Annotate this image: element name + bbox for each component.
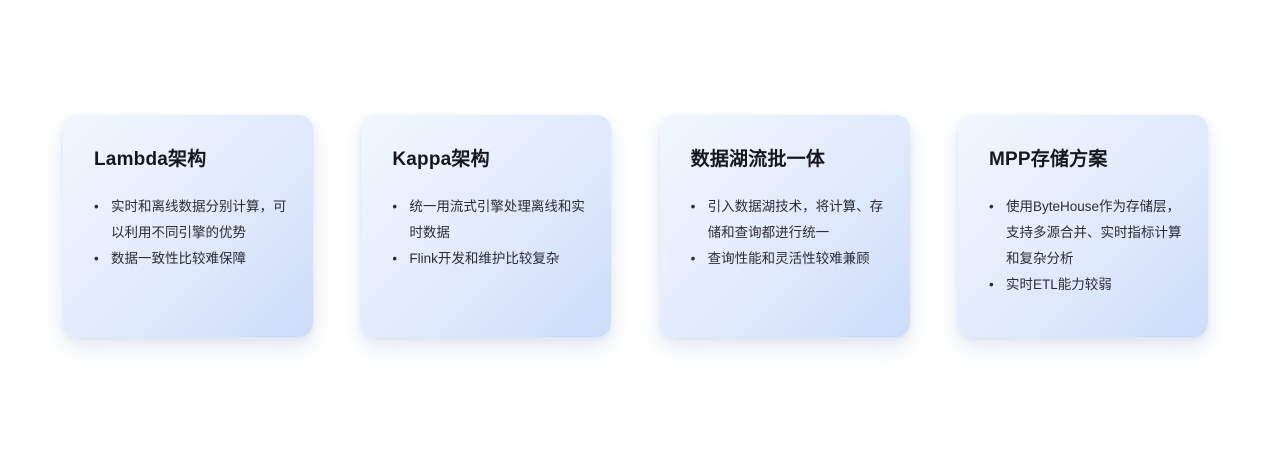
- card-bullet-list: • 引入数据湖技术，将计算、存储和查询都进行统一 • 查询性能和灵活性较难兼顾: [691, 194, 890, 272]
- list-item-text: 使用ByteHouse作为存储层，支持多源合并、实时指标计算和复杂分析: [1006, 199, 1182, 266]
- list-item: • 查询性能和灵活性较难兼顾: [691, 246, 890, 272]
- bullet-point-icon: •: [691, 194, 696, 220]
- list-item-text: 查询性能和灵活性较难兼顾: [708, 251, 870, 266]
- card-bullet-list: • 统一用流式引擎处理离线和实时数据 • Flink开发和维护比较复杂: [392, 194, 591, 272]
- list-item: • 实时ETL能力较弱: [989, 272, 1188, 298]
- bullet-point-icon: •: [94, 194, 99, 220]
- card-title: MPP存储方案: [989, 149, 1188, 172]
- bullet-point-icon: •: [392, 194, 397, 220]
- list-item: • 统一用流式引擎处理离线和实时数据: [392, 194, 591, 246]
- slide-canvas: Lambda架构 • 实时和离线数据分别计算，可以利用不同引擎的优势 • 数据一…: [0, 0, 1280, 472]
- list-item-text: 统一用流式引擎处理离线和实时数据: [409, 199, 585, 240]
- architecture-card-mpp[interactable]: MPP存储方案 • 使用ByteHouse作为存储层，支持多源合并、实时指标计算…: [958, 115, 1208, 337]
- card-bullet-list: • 实时和离线数据分别计算，可以利用不同引擎的优势 • 数据一致性比较难保障: [94, 194, 293, 272]
- list-item-text: 实时和离线数据分别计算，可以利用不同引擎的优势: [111, 199, 287, 240]
- architecture-card-lambda[interactable]: Lambda架构 • 实时和离线数据分别计算，可以利用不同引擎的优势 • 数据一…: [63, 115, 313, 337]
- list-item: • 实时和离线数据分别计算，可以利用不同引擎的优势: [94, 194, 293, 246]
- card-title: Lambda架构: [94, 149, 293, 172]
- bullet-point-icon: •: [989, 272, 994, 298]
- architecture-card-kappa[interactable]: Kappa架构 • 统一用流式引擎处理离线和实时数据 • Flink开发和维护比…: [361, 115, 611, 337]
- card-title: Kappa架构: [392, 149, 591, 172]
- list-item-text: 实时ETL能力较弱: [1006, 277, 1112, 292]
- bullet-point-icon: •: [94, 246, 99, 272]
- list-item-text: Flink开发和维护比较复杂: [409, 251, 559, 266]
- list-item: • 数据一致性比较难保障: [94, 246, 293, 272]
- bullet-point-icon: •: [392, 246, 397, 272]
- list-item-text: 引入数据湖技术，将计算、存储和查询都进行统一: [708, 199, 884, 240]
- list-item: • 引入数据湖技术，将计算、存储和查询都进行统一: [691, 194, 890, 246]
- bullet-point-icon: •: [989, 194, 994, 220]
- list-item: • 使用ByteHouse作为存储层，支持多源合并、实时指标计算和复杂分析: [989, 194, 1188, 272]
- architecture-card-row: Lambda架构 • 实时和离线数据分别计算，可以利用不同引擎的优势 • 数据一…: [63, 115, 1208, 337]
- bullet-point-icon: •: [691, 246, 696, 272]
- list-item-text: 数据一致性比较难保障: [111, 251, 246, 266]
- card-bullet-list: • 使用ByteHouse作为存储层，支持多源合并、实时指标计算和复杂分析 • …: [989, 194, 1188, 298]
- card-title: 数据湖流批一体: [691, 149, 890, 172]
- list-item: • Flink开发和维护比较复杂: [392, 246, 591, 272]
- architecture-card-data-lake[interactable]: 数据湖流批一体 • 引入数据湖技术，将计算、存储和查询都进行统一 • 查询性能和…: [660, 115, 910, 337]
